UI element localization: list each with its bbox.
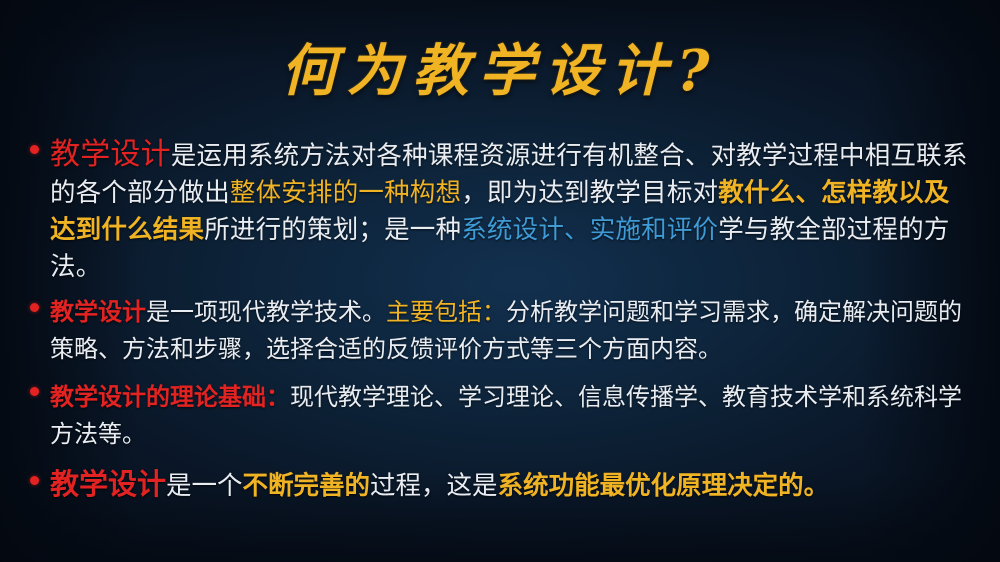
presentation-slide: 何为教学设计? 教学设计是运用系统方法对各种课程资源进行有机整合、对教学过程中相… bbox=[0, 0, 1000, 562]
bullet-marker-icon bbox=[30, 136, 50, 154]
text-run-white: 是一项现代教学技术。 bbox=[146, 299, 386, 326]
bullet-item-3: 教学设计的理论基础：现代教学理论、学习理论、信息传播学、教育技术学和系统科学方法… bbox=[30, 378, 972, 453]
bullet-item-2: 教学设计是一项现代教学技术。主要包括：分析教学问题和学习需求，确定解决问题的策略… bbox=[30, 294, 972, 368]
bullet-text-1: 教学设计是运用系统方法对各种课程资源进行有机整合、对教学过程中相互联系的各个部分… bbox=[50, 136, 972, 286]
text-run-white: 所进行的策划；是一种 bbox=[204, 216, 461, 244]
bullet-text-4: 教学设计是一个不断完善的过程，这是系统功能最优化原理决定的。 bbox=[50, 467, 972, 505]
bullet-marker-icon bbox=[30, 294, 50, 312]
bullet-item-1: 教学设计是运用系统方法对各种课程资源进行有机整合、对教学过程中相互联系的各个部分… bbox=[30, 136, 972, 286]
text-run-gold: 不断完善的 bbox=[243, 472, 371, 500]
bullet-marker-icon bbox=[30, 378, 50, 396]
text-run-red: 教学设计 bbox=[50, 469, 166, 501]
bullet-item-4: 教学设计是一个不断完善的过程，这是系统功能最优化原理决定的。 bbox=[30, 467, 972, 505]
text-run-red: 教学设计 bbox=[50, 137, 171, 172]
text-run-white: ，即为达到教学目标对 bbox=[461, 179, 718, 207]
text-run-gold: 整体安排的一种构想 bbox=[230, 179, 461, 207]
bullet-marker-icon bbox=[30, 467, 50, 485]
text-run-gold: 主要包括： bbox=[386, 299, 506, 326]
text-run-white: 过程，这是 bbox=[370, 472, 498, 500]
slide-title: 何为教学设计? bbox=[0, 26, 1000, 107]
text-run-red: 教学设计 bbox=[50, 299, 146, 326]
text-run-blue: 系统设计、实施和评价 bbox=[461, 216, 718, 244]
text-run-gold: 系统功能最优化原理决定的。 bbox=[498, 472, 830, 500]
text-run-red: 教学设计的理论基础： bbox=[50, 382, 290, 411]
bullet-text-3: 教学设计的理论基础：现代教学理论、学习理论、信息传播学、教育技术学和系统科学方法… bbox=[50, 378, 972, 453]
bullet-text-2: 教学设计是一项现代教学技术。主要包括：分析教学问题和学习需求，确定解决问题的策略… bbox=[50, 294, 972, 368]
slide-body: 教学设计是运用系统方法对各种课程资源进行有机整合、对教学过程中相互联系的各个部分… bbox=[30, 136, 972, 517]
text-run-white: 是一个 bbox=[166, 472, 243, 500]
